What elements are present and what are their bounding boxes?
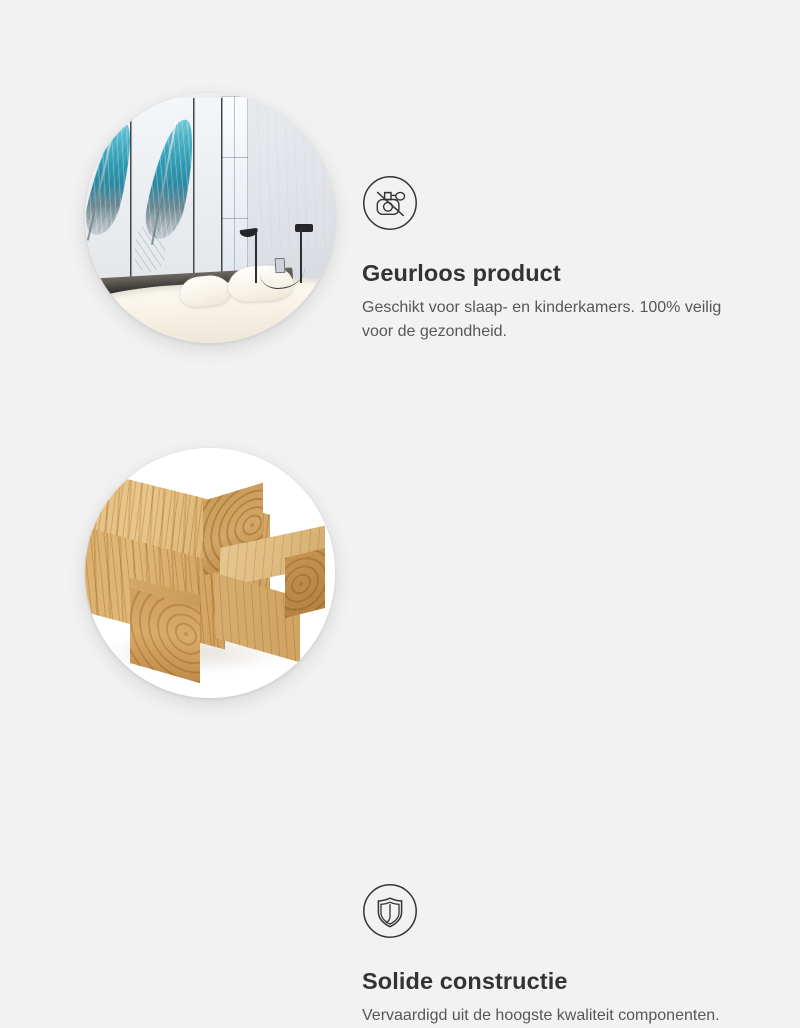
feature-block-solide-constructie: Solide constructie Vervaardigd uit de ho… (0, 400, 800, 755)
shield-icon (362, 883, 418, 939)
lamp-stand (300, 228, 302, 283)
canvas-panel-right (196, 98, 221, 283)
wood-blocks-scene (85, 448, 335, 698)
wooden-blocks-photo (85, 448, 335, 698)
feature-description: Vervaardigd uit de hoogste kwaliteit com… (362, 1004, 747, 1028)
feature-copy-solide-constructie: Solide constructie Vervaardigd uit de ho… (362, 883, 762, 1028)
no-fragrance-icon (362, 175, 418, 231)
feature-title: Solide constructie (362, 967, 762, 995)
picture-frame (275, 258, 286, 274)
bedroom-feather-canvas-photo (85, 93, 335, 343)
bedroom-scene (85, 93, 335, 343)
feature-description: Geschikt voor slaap- en kinderkamers. 10… (362, 296, 747, 343)
window (221, 96, 247, 281)
lamp-shade (295, 224, 313, 232)
canvas-panel-left (85, 98, 130, 283)
wall-texture (253, 103, 331, 248)
window-mullion (234, 96, 235, 281)
feature-block-geurloos: Geurloos product Geschikt voor slaap- en… (0, 45, 800, 400)
canvas-panel-middle (133, 98, 193, 283)
lamp-stand (255, 233, 257, 283)
photo-inner (85, 93, 335, 343)
feature-copy-geurloos: Geurloos product Geschikt voor slaap- en… (362, 175, 762, 344)
block-right-end-grain (285, 548, 325, 618)
feature-title: Geurloos product (362, 259, 762, 287)
photo-inner (85, 448, 335, 698)
